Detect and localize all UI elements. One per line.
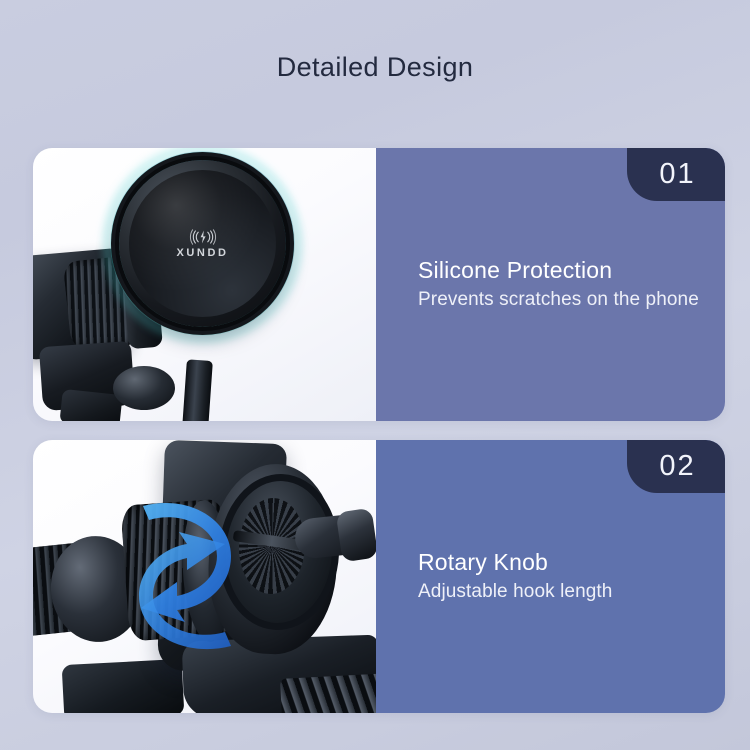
ball-joint — [113, 366, 175, 410]
feature-info-2: 02 Rotary Knob Adjustable hook length — [376, 440, 725, 713]
charger-arm — [179, 359, 213, 421]
feature-info-1: 01 Silicone Protection Prevents scratche… — [376, 148, 725, 421]
product-detail-page: Detailed Design — [0, 0, 750, 750]
feature-text-block-1: Silicone Protection Prevents scratches o… — [418, 256, 707, 312]
feature-subtitle: Prevents scratches on the phone — [418, 288, 707, 313]
step-badge-1: 01 — [627, 148, 725, 201]
step-badge-2: 02 — [627, 440, 725, 493]
brand-logo: XUNDD — [129, 170, 276, 317]
feature-card-2: 02 Rotary Knob Adjustable hook length — [33, 440, 725, 713]
rotation-arrows-icon — [81, 476, 311, 666]
wireless-charging-icon — [188, 229, 218, 245]
feature-text-block-2: Rotary Knob Adjustable hook length — [418, 548, 707, 604]
feature-title: Rotary Knob — [418, 548, 707, 577]
hook-tip — [336, 508, 376, 563]
vent-fins — [280, 673, 376, 713]
rotary-knob-illustration — [33, 440, 376, 713]
feature-subtitle: Adjustable hook length — [418, 580, 707, 605]
feature-card-1: XUNDD 01 Silicone Protection Prevents sc… — [33, 148, 725, 421]
charger-illustration: XUNDD — [33, 148, 376, 421]
product-photo-2 — [33, 440, 376, 713]
page-title: Detailed Design — [0, 52, 750, 83]
feature-title: Silicone Protection — [418, 256, 707, 285]
brand-logo-text: XUNDD — [176, 247, 228, 259]
step-number: 02 — [656, 452, 695, 481]
step-number: 01 — [656, 160, 695, 189]
mount-foot-2 — [62, 659, 185, 713]
product-photo-1: XUNDD — [33, 148, 376, 421]
